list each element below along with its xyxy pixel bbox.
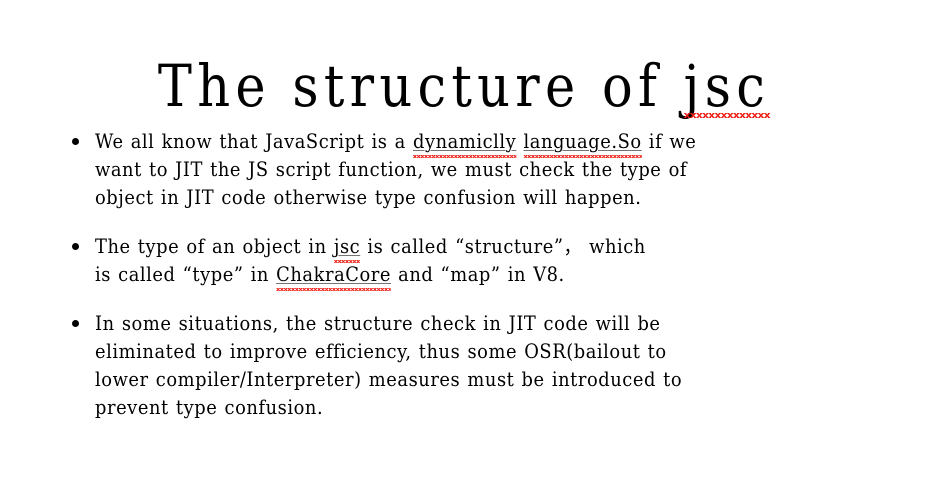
misspelled-word-chakracore: ChakraCore (276, 263, 391, 286)
title-text: The structure of (158, 52, 684, 120)
text-run: In some situations, the structure check … (95, 312, 682, 419)
bullet-point-icon (72, 243, 79, 250)
misspelled-word-jsc: jsc (334, 235, 360, 258)
text-run (516, 130, 523, 153)
bullet-paragraph-1: We all know that JavaScript is a dynamic… (95, 128, 912, 212)
list-item: The type of an object in jsc is called “… (62, 233, 912, 289)
text-run: and “map” in V8. (391, 263, 565, 286)
list-item: In some situations, the structure check … (62, 310, 912, 422)
slide-canvas: The structure of jsc We all know that Ja… (0, 0, 928, 497)
bullet-point-icon (72, 320, 79, 327)
text-run: We all know that JavaScript is a (95, 130, 413, 153)
text-run: The type of an object in (95, 235, 334, 258)
misspelled-word-language-so: language.So (523, 130, 641, 153)
bullet-paragraph-3: In some situations, the structure check … (95, 310, 912, 422)
bullet-paragraph-2: The type of an object in jsc is called “… (95, 233, 912, 289)
title-misspelled-word: jsc (684, 52, 770, 120)
bullet-list: We all know that JavaScript is a dynamic… (62, 128, 912, 422)
misspelled-word-dynamiclly: dynamiclly (413, 130, 516, 153)
list-item: We all know that JavaScript is a dynamic… (62, 128, 912, 212)
bullet-point-icon (72, 138, 79, 145)
page-title: The structure of jsc (56, 53, 873, 119)
